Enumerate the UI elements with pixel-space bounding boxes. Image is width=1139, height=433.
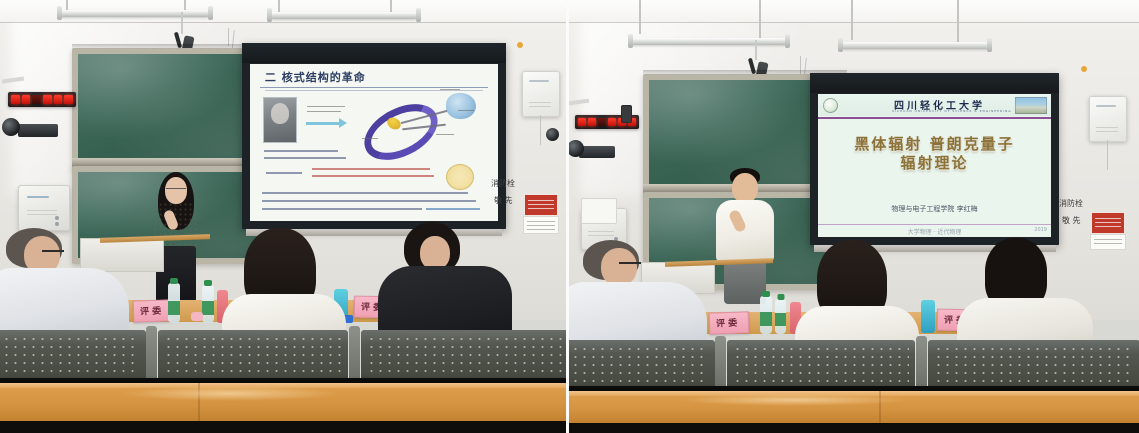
desk-glare (120, 386, 340, 401)
screen-valance (242, 43, 506, 63)
audience-member-1-right: 白衬衫 男性 评委 (569, 240, 709, 352)
audience-member-3-left: 黑色西装 盘发 女性 (382, 222, 512, 338)
right-photo: 四川轻化工大学 SICHUAN UNIVERSITY OF SCIENCE & … (569, 0, 1139, 433)
highlight-line-red (312, 175, 434, 177)
led-digit (11, 95, 20, 104)
slide-footer-rule (818, 224, 1051, 225)
ceiling-seam-right (569, 22, 1139, 23)
notice-line (527, 229, 556, 230)
lamp-end-cap (628, 34, 633, 48)
glasses-icon (166, 188, 186, 189)
chair-back-1-left (0, 330, 146, 380)
handwriting-line (262, 208, 422, 210)
chair-mesh-pattern (733, 345, 909, 388)
audience-head (420, 236, 450, 270)
control-knob-icon[interactable] (55, 216, 59, 220)
chair-back-2-left (158, 330, 348, 380)
wall-vertical-text-1: 消防栓 (1059, 200, 1068, 208)
figure-label-line (440, 89, 460, 90)
lamp-rod-icon (184, 0, 186, 10)
slide-title-rule-2 (265, 90, 483, 91)
handwriting-line (307, 106, 345, 107)
highlight-line-red (312, 168, 430, 170)
desk-glare (679, 394, 909, 407)
water-bottle-2-left (202, 285, 214, 323)
control-vent (27, 210, 57, 211)
lamp-rod-icon (639, 0, 641, 34)
handwriting-line-blue (426, 208, 480, 210)
glasses-icon (42, 250, 64, 252)
control-vent (588, 235, 614, 236)
led-display-left[interactable]: 电子显示屏 (8, 92, 76, 107)
wall-vertical-text-2: 敬 先 (494, 197, 503, 205)
control-vent (588, 231, 614, 232)
presenter-head (165, 177, 187, 204)
audience-member-2-right: 白色蕾丝上衣 长卷发 女性 (797, 240, 917, 352)
name-card-1-right: 评 委 (709, 311, 750, 334)
lamp-end-cap (785, 34, 790, 48)
ceiling-right (569, 0, 1139, 22)
white-notice-left: 多媒体教室使用说明 (523, 216, 559, 234)
campus-photo-thumbnail (1015, 97, 1047, 114)
lamp-end-cap (57, 6, 62, 20)
camera-body-right (579, 146, 615, 158)
notice-line (1095, 222, 1121, 223)
microphone-rod (755, 40, 757, 60)
handwriting-line (264, 150, 338, 152)
slide-subtitle: 物理与电子工程学院 李红梅 (818, 204, 1051, 214)
handwriting-line (262, 192, 468, 194)
lamp-end-cap (838, 38, 843, 52)
front-desk-right (569, 391, 1139, 423)
led-digit (43, 95, 52, 104)
bottle-label (760, 312, 772, 326)
chair-divider-1-left (146, 326, 157, 382)
fluorescent-lamp-icon (60, 10, 210, 17)
presenter-head (732, 173, 758, 203)
lamp-rod-icon (759, 0, 761, 38)
desk-underside-right (569, 423, 1139, 433)
chair-back-2-right (727, 340, 915, 388)
equipment-vent (529, 106, 551, 107)
slide-title-rule (260, 87, 488, 88)
audience-member-2-left: 白色蕾丝上衣 长卷发 女性 (224, 228, 344, 338)
red-safety-notice-left: 安全须知 (524, 194, 558, 216)
equipment-vent (1096, 127, 1118, 128)
wall-sensor-icon (621, 105, 632, 123)
wall-vertical-text-2: 敬 先 (1062, 217, 1071, 225)
name-card-text: 评 委 (716, 316, 738, 330)
water-bottle-1-left (168, 283, 180, 323)
lamp-end-cap (416, 8, 421, 22)
left-photo: 二 核式结构的革命 卢瑟福 α 粒子散射实验 原子核式结构模型示意图 (0, 0, 566, 433)
chair-back-3-left (361, 330, 566, 380)
white-notice-right: 多媒体教室使用说明 (1090, 234, 1126, 250)
lamp-rod-icon (66, 0, 68, 10)
figure-label-line (458, 110, 474, 111)
notice-line (528, 200, 554, 201)
fluorescent-lamp-icon (631, 38, 787, 45)
led-digit (588, 118, 596, 126)
notice-line (528, 208, 554, 209)
microphone-rod (181, 12, 183, 34)
camera-lens-icon (2, 118, 20, 136)
slide-right: 四川轻化工大学 SICHUAN UNIVERSITY OF SCIENCE & … (818, 94, 1051, 237)
wall-sticker-icon (517, 42, 523, 48)
figure-label-line (362, 138, 378, 139)
name-card-text: 评 委 (140, 304, 162, 318)
wall-equipment-box-right[interactable] (1089, 96, 1127, 142)
projection-screen-housing-left: 二 核式结构的革命 卢瑟福 α 粒子散射实验 原子核式结构模型示意图 (242, 43, 506, 229)
bottle-cap (170, 278, 178, 284)
lamp-end-cap (208, 6, 213, 20)
equipment-vent (529, 102, 551, 103)
camera-body-left (18, 124, 58, 137)
photo-pair-stage: 二 核式结构的革命 卢瑟福 α 粒子散射实验 原子核式结构模型示意图 (0, 0, 1139, 433)
chair-mesh-pattern (571, 345, 709, 388)
chair-back-1-right (569, 340, 715, 388)
chair-divider-1-right (715, 336, 726, 390)
process-arrow-icon (306, 122, 340, 125)
wall-equipment-box-left[interactable] (522, 71, 560, 117)
slide-heading-left: 二 核式结构的革命 (265, 69, 366, 85)
notice-line (527, 221, 556, 222)
chair-back-3-right (928, 340, 1139, 388)
handwriting-line (307, 111, 341, 112)
equipment-stripe (529, 80, 549, 82)
red-safety-notice-right: 安全须知 (1091, 212, 1125, 234)
led-digit (598, 118, 606, 126)
wall-plate-right (581, 198, 617, 224)
chair-mesh-pattern (2, 335, 140, 380)
control-panel-left[interactable]: 多媒体控制箱 (18, 185, 70, 231)
control-vent (27, 214, 57, 215)
led-digit (22, 95, 31, 104)
bottle-cap (204, 280, 212, 286)
university-name-pinyin: SICHUAN UNIVERSITY OF SCIENCE & ENGINEER… (892, 109, 1012, 113)
notice-line (1095, 226, 1121, 227)
slide-title-line-1: 黑体辐射 普朗克量子 (818, 136, 1051, 154)
orbit-ring-graphic (358, 93, 444, 171)
lamp-rod-icon (851, 0, 853, 40)
notice-line (527, 225, 556, 226)
bottle-label (202, 301, 214, 315)
glasses-icon (619, 262, 641, 264)
led-digit (54, 95, 63, 104)
slide-left: 二 核式结构的革命 卢瑟福 α 粒子散射实验 原子核式结构模型示意图 (250, 64, 498, 221)
equipment-vent (1096, 131, 1118, 132)
lamp-rod-icon (957, 0, 959, 42)
notice-line (528, 204, 554, 205)
water-bottle-1-right (760, 296, 772, 334)
spacer (18, 186, 20, 188)
audience-head (601, 248, 637, 286)
audience-suit (378, 266, 512, 338)
wall-sticker-icon (1081, 66, 1087, 72)
lamp-end-cap (987, 38, 992, 52)
blue-tumbler-right (921, 300, 935, 333)
audience-member-1-left: 白衬衫 男性 评委 (0, 228, 134, 338)
led-digit (64, 95, 73, 104)
control-knob-icon[interactable] (55, 222, 59, 226)
water-bottle-2-right (775, 299, 786, 334)
slide-page-number: 2019 (1034, 227, 1047, 233)
equipment-cable (1107, 140, 1108, 170)
electron-cloud-graphic (446, 164, 474, 190)
notice-line (1094, 243, 1123, 244)
small-pink-item-left (191, 312, 203, 321)
front-desk-left (0, 383, 566, 421)
desk-underside-left (0, 421, 566, 433)
control-readout (27, 196, 49, 198)
university-emblem-icon (823, 98, 838, 113)
wall-vertical-text-1: 消防栓 (491, 180, 500, 188)
chair-mesh-pattern (367, 335, 563, 380)
banner-accent-rule (818, 117, 1051, 119)
chair-mesh-pattern (934, 345, 1134, 388)
audience-member-3-right: 白色上衣 长发 女性 (961, 238, 1091, 354)
projection-screen-housing-right: 四川轻化工大学 SICHUAN UNIVERSITY OF SCIENCE & … (810, 73, 1059, 245)
chair-divider-2-left (349, 326, 360, 382)
camera-lens-icon (546, 128, 559, 141)
chair-mesh-pattern (164, 335, 342, 380)
equipment-cable (540, 115, 541, 145)
scientist-portrait-image (263, 97, 297, 143)
slide-footer-text: 大学物理 · 近代物理 (818, 227, 1051, 236)
lamp-end-cap (267, 8, 272, 22)
led-digit (578, 118, 586, 126)
presenter-tshirt (716, 200, 774, 262)
led-digit (32, 95, 41, 104)
handwriting-line (264, 157, 346, 159)
fluorescent-lamp-icon (270, 12, 418, 19)
figure-label-line (436, 134, 454, 135)
presenter-right: 短发 白色T恤 灰色长裤 (712, 168, 782, 304)
chair-divider-2-right (916, 336, 927, 390)
screen-valance (810, 73, 1059, 93)
bottle-label (168, 301, 180, 315)
notice-line (1094, 239, 1123, 240)
ceiling-seam-left (0, 22, 566, 23)
lamp-rod-icon (278, 0, 280, 12)
bottle-cap (777, 294, 784, 300)
slide-title-line-2: 辐射理论 (818, 155, 1051, 173)
atom-cluster-graphic (446, 93, 476, 119)
bottle-cap (762, 291, 770, 297)
handwriting-line (266, 172, 302, 174)
bottle-label (775, 313, 786, 326)
led-digit (608, 118, 616, 126)
fluorescent-lamp-icon (841, 42, 989, 49)
handwriting-line (262, 200, 476, 202)
equipment-stripe (1096, 105, 1116, 107)
notice-line (1095, 218, 1121, 219)
